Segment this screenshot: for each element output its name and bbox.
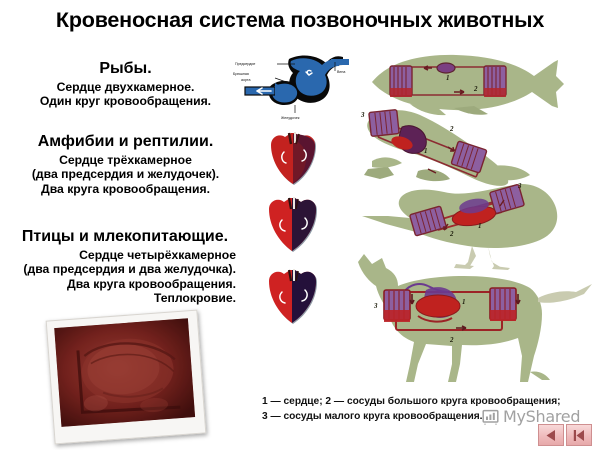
number-label-2: 2	[449, 230, 454, 238]
group-heading-birds-mammals: Птицы и млекопитающие.	[14, 228, 236, 246]
page-title: Кровеносная система позвоночных животных	[0, 8, 600, 33]
label-vein: Вена	[337, 70, 345, 74]
number-label-3: 3	[517, 182, 522, 190]
text-block-birds-mammals: Птицы и млекопитающие. Сердце четырёхкам…	[14, 228, 236, 305]
first-slide-button[interactable]	[566, 424, 592, 446]
group-heading-amphibians: Амфибии и рептилии.	[18, 133, 233, 151]
number-label-3: 3	[373, 302, 378, 310]
group-line-amph-2: (два предсердия и желудочек).	[18, 167, 233, 181]
label-ventricle: Желудочек	[281, 116, 300, 120]
heart-tissue-photo	[54, 318, 195, 427]
group-line-amph-3: Два круга кровообращения.	[18, 182, 233, 196]
number-label-2: 2	[449, 125, 454, 133]
number-label-2: 2	[449, 336, 454, 344]
navigation-buttons	[538, 424, 592, 446]
group-line-bird-4: Теплокровие.	[14, 291, 236, 305]
group-line-bird-2: (два предсердия и два желудочка).	[14, 262, 236, 276]
bar-chart-icon	[482, 408, 499, 425]
animal-panel-mammal: 3 1 2	[352, 252, 600, 387]
heart-illustration-mammal	[262, 268, 326, 328]
number-label-1: 1	[424, 147, 428, 155]
number-label-1: 1	[478, 222, 482, 230]
label-ventral-aorta-2: аорта	[241, 78, 251, 82]
group-line-fish-1: Сердце двухкамерное.	[18, 80, 233, 94]
triangle-left-bar-icon	[572, 429, 586, 442]
number-label-1: 1	[446, 74, 450, 82]
label-ventral-aorta-1: Брюшная	[233, 72, 249, 76]
text-block-fish: Рыбы. Сердце двухкамерное. Один круг кро…	[18, 60, 233, 109]
number-label-1: 1	[462, 298, 466, 306]
group-line-bird-1: Сердце четырёхкамерное	[14, 248, 236, 262]
fish-heart-diagram: Предсердие Брюшная аорта Вена Желудочек	[231, 45, 359, 123]
text-block-amphibians: Амфибии и рептилии. Сердце трёхкамерное …	[18, 133, 233, 196]
heart-tissue-photo-frame	[46, 310, 207, 445]
group-heading-fish: Рыбы.	[18, 60, 233, 78]
heart-illustration-amphibian	[262, 130, 326, 190]
group-line-amph-1: Сердце трёхкамерное	[18, 153, 233, 167]
heart-illustration-reptile	[262, 196, 326, 256]
number-label-2: 2	[473, 85, 478, 93]
triangle-left-icon	[544, 429, 558, 442]
prev-slide-button[interactable]	[538, 424, 564, 446]
group-line-fish-2: Один круг кровообращения.	[18, 94, 233, 108]
slide-canvas: Кровеносная система позвоночных животных…	[0, 0, 600, 450]
number-label-3: 3	[360, 111, 365, 119]
group-line-bird-3: Два круга кровообращения.	[14, 277, 236, 291]
label-atrium: Предсердие	[235, 62, 255, 66]
